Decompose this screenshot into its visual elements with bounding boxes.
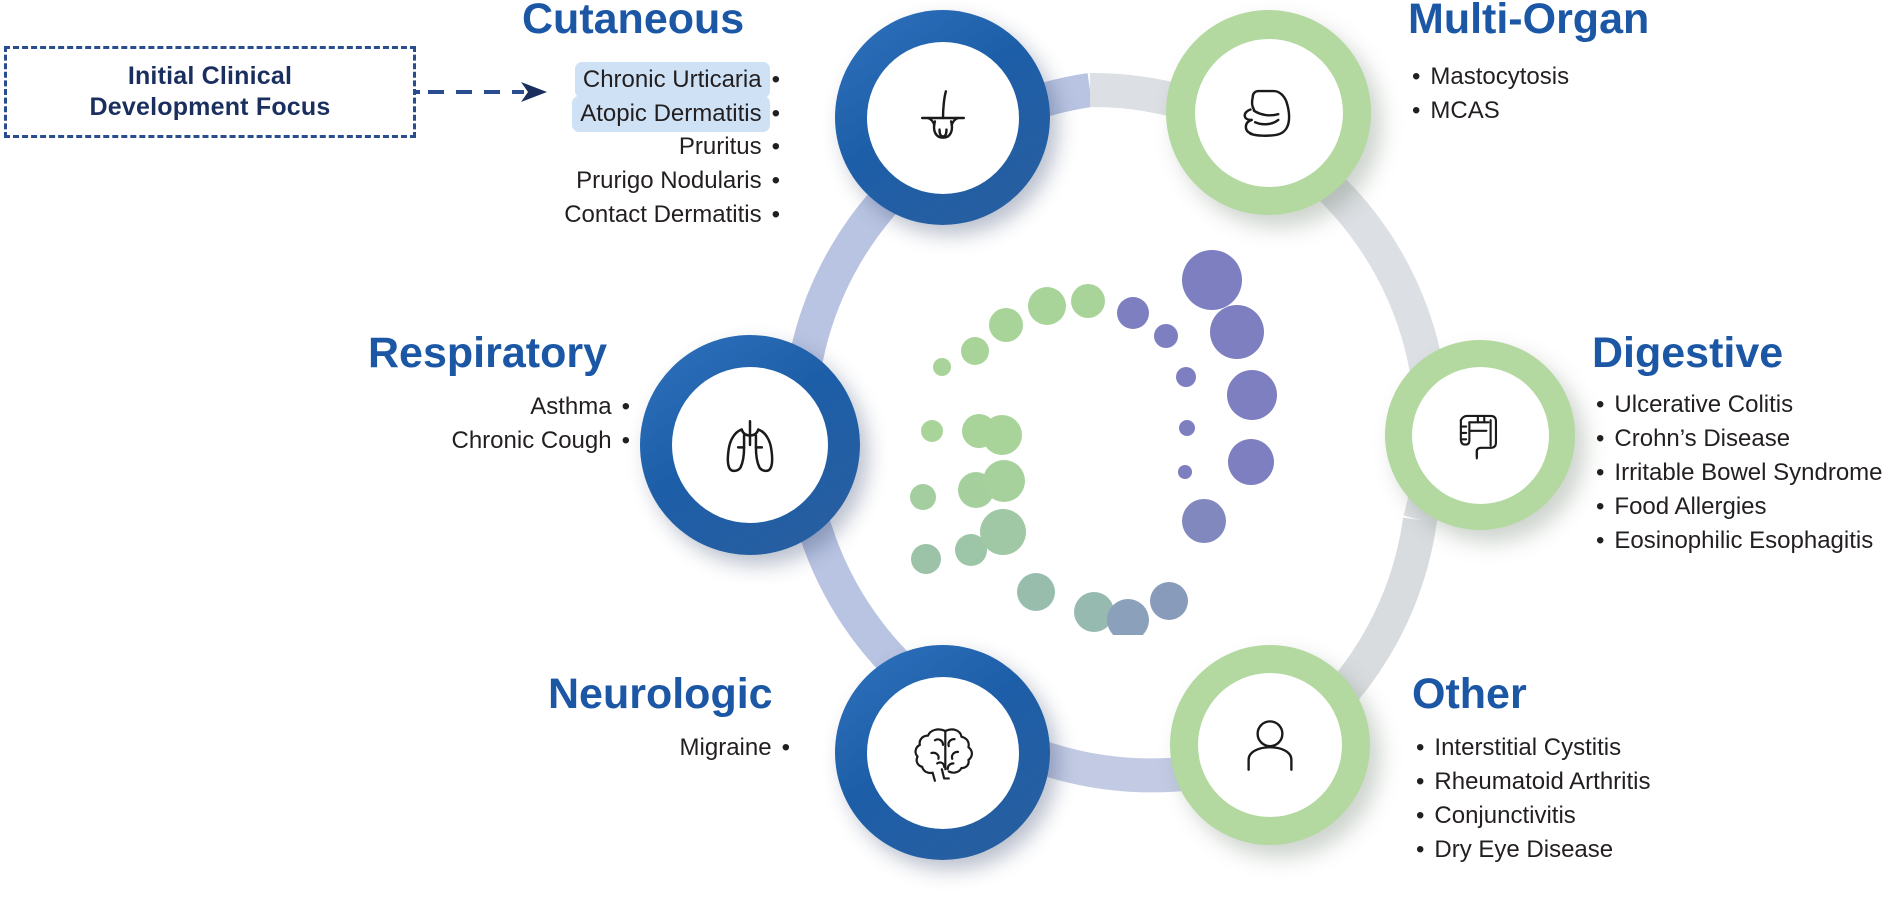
- bullet-icon: •: [772, 63, 780, 97]
- list-item: •Interstitial Cystitis: [1416, 731, 1816, 765]
- bullet-icon: •: [1596, 524, 1604, 558]
- cluster-dot-green: [1028, 287, 1066, 325]
- list-item: •Food Allergies: [1596, 490, 1892, 524]
- list-item-label: Dry Eye Disease: [1434, 833, 1613, 867]
- cluster-dot-purple: [1182, 250, 1242, 310]
- list-item: Chronic Urticaria•: [240, 62, 780, 96]
- cluster-dot-purple: [1227, 370, 1277, 420]
- brain-icon: [906, 716, 980, 790]
- cluster-dot-green: [1071, 284, 1105, 318]
- heading-digestive: Digestive: [1592, 332, 1783, 375]
- bullet-icon: •: [1596, 388, 1604, 422]
- heading-other: Other: [1412, 673, 1527, 716]
- list-item-label: Chronic Cough: [452, 424, 612, 458]
- bullet-icon: •: [1416, 765, 1424, 799]
- list-item: •Eosinophilic Esophagitis: [1596, 524, 1892, 558]
- node-cutaneous[interactable]: [835, 10, 1050, 225]
- list-item-label: Mastocytosis: [1430, 60, 1569, 94]
- bullet-icon: •: [1416, 833, 1424, 867]
- list-item: Asthma•: [200, 390, 630, 424]
- node-neurologic[interactable]: [835, 645, 1050, 860]
- list-item: Chronic Cough•: [200, 424, 630, 458]
- list-item: •Mastocytosis: [1412, 60, 1852, 94]
- bullet-icon: •: [1596, 456, 1604, 490]
- node-digestive[interactable]: [1385, 340, 1575, 530]
- list-item: •MCAS: [1412, 94, 1852, 128]
- cluster-dot-green: [980, 509, 1026, 555]
- heading-multi-organ: Multi-Organ: [1408, 0, 1649, 41]
- cluster-dot-green: [983, 460, 1025, 502]
- bullet-icon: •: [772, 97, 780, 131]
- bullet-icon: •: [1416, 731, 1424, 765]
- cluster-dot-green: [911, 544, 941, 574]
- cluster-dot-purple: [1179, 420, 1195, 436]
- list-item: •Rheumatoid Arthritis: [1416, 765, 1816, 799]
- list-item-label: Crohn’s Disease: [1614, 422, 1790, 456]
- list-multi-organ: •Mastocytosis•MCAS: [1412, 60, 1852, 128]
- list-item-label: Irritable Bowel Syndrome: [1614, 456, 1882, 490]
- bullet-icon: •: [772, 130, 780, 164]
- cluster-dot-purple: [1107, 599, 1149, 635]
- bullet-icon: •: [772, 198, 780, 232]
- list-item-label: Contact Dermatitis: [564, 198, 761, 232]
- list-item-label: Conjunctivitis: [1434, 799, 1575, 833]
- list-item-label: Interstitial Cystitis: [1434, 731, 1621, 765]
- list-item: Migraine•: [270, 731, 790, 765]
- node-other[interactable]: [1170, 645, 1370, 845]
- list-item: •Irritable Bowel Syndrome: [1596, 456, 1892, 490]
- cluster-dot-green: [921, 420, 943, 442]
- cluster-dot-green: [933, 358, 951, 376]
- bullet-icon: •: [1412, 94, 1420, 128]
- cluster-dot-green: [1017, 573, 1055, 611]
- list-item: Pruritus•: [240, 130, 780, 164]
- bullet-icon: •: [1416, 799, 1424, 833]
- list-item: •Conjunctivitis: [1416, 799, 1816, 833]
- cluster-dot-purple: [1176, 367, 1196, 387]
- list-item-label: Chronic Urticaria: [575, 62, 770, 98]
- lungs-icon: [712, 407, 788, 483]
- cluster-dot-purple: [1154, 324, 1178, 348]
- list-other: •Interstitial Cystitis•Rheumatoid Arthri…: [1416, 731, 1816, 867]
- list-item: •Ulcerative Colitis: [1596, 388, 1892, 422]
- node-multi-organ[interactable]: [1166, 10, 1371, 215]
- cluster-dot-green: [961, 337, 989, 365]
- cluster-dot-green: [982, 415, 1022, 455]
- list-item-label: Asthma: [530, 390, 611, 424]
- list-item-label: Food Allergies: [1614, 490, 1766, 524]
- list-neurologic: Migraine•: [270, 731, 790, 765]
- cluster-dot-purple: [1178, 465, 1192, 479]
- list-respiratory: Asthma•Chronic Cough•: [200, 390, 630, 458]
- bullet-icon: •: [772, 164, 780, 198]
- list-item-label: Migraine: [680, 731, 772, 765]
- list-item-label: MCAS: [1430, 94, 1499, 128]
- cluster-dot-purple: [1150, 582, 1188, 620]
- person-silhouette-icon: [1234, 709, 1306, 781]
- heading-cutaneous: Cutaneous: [522, 0, 744, 41]
- cluster-dot-purple: [1117, 297, 1149, 329]
- bullet-icon: •: [622, 390, 630, 424]
- cluster-dot-green: [989, 308, 1023, 342]
- list-item-label: Atopic Dermatitis: [572, 96, 769, 132]
- bullet-icon: •: [782, 731, 790, 765]
- cluster-dot-purple: [1210, 305, 1264, 359]
- flexed-bicep-icon: [1232, 76, 1306, 150]
- cluster-dot-purple: [1182, 499, 1226, 543]
- bullet-icon: •: [1412, 60, 1420, 94]
- list-item-label: Ulcerative Colitis: [1614, 388, 1793, 422]
- list-item: •Dry Eye Disease: [1416, 833, 1816, 867]
- list-item-label: Eosinophilic Esophagitis: [1614, 524, 1873, 558]
- bullet-icon: •: [1596, 422, 1604, 456]
- list-digestive: •Ulcerative Colitis•Crohn’s Disease•Irri…: [1596, 388, 1892, 558]
- heading-respiratory: Respiratory: [368, 332, 607, 375]
- cluster-dot-purple: [1228, 439, 1274, 485]
- cluster-dot-green: [910, 484, 936, 510]
- bullet-icon: •: [1596, 490, 1604, 524]
- list-item: Contact Dermatitis•: [240, 198, 780, 232]
- mast-cell-dot-cluster: [880, 235, 1300, 635]
- hair-follicle-skin-icon: [906, 81, 980, 155]
- intestine-colon-icon: [1446, 401, 1514, 469]
- list-item: Atopic Dermatitis•: [240, 96, 780, 130]
- list-item: Prurigo Nodularis•: [240, 164, 780, 198]
- list-item: •Crohn’s Disease: [1596, 422, 1892, 456]
- list-item-label: Rheumatoid Arthritis: [1434, 765, 1650, 799]
- node-respiratory[interactable]: [640, 335, 860, 555]
- list-item-label: Pruritus: [679, 130, 762, 164]
- heading-neurologic: Neurologic: [548, 673, 773, 716]
- bullet-icon: •: [622, 424, 630, 458]
- list-cutaneous: Chronic Urticaria•Atopic Dermatitis•Prur…: [240, 62, 780, 232]
- list-item-label: Prurigo Nodularis: [576, 164, 761, 198]
